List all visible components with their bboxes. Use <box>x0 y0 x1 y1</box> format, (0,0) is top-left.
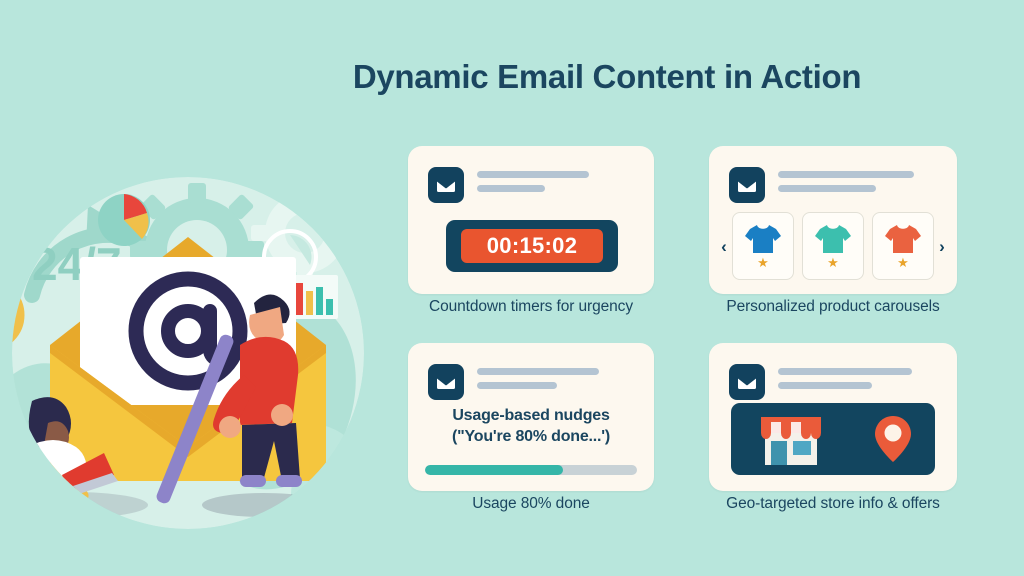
geo-store-cell: Geo-targeted store info & offers <box>709 343 957 518</box>
usage-nudge-message: Usage-based nudges ("You're 80% done...'… <box>422 405 640 447</box>
email-header <box>729 167 914 203</box>
page-title: Dynamic Email Content in Action <box>0 58 1024 96</box>
geo-store-caption: Geo-targeted store info & offers <box>709 495 957 513</box>
storefront-icon <box>753 411 829 467</box>
subject-placeholder-lines <box>778 167 914 199</box>
star-icon: ★ <box>897 256 909 269</box>
subject-placeholder-lines <box>778 364 912 396</box>
product-tile[interactable]: ★ <box>802 212 864 280</box>
usage-progress-fill <box>425 465 563 475</box>
envelope-icon <box>729 364 765 400</box>
subject-placeholder-lines <box>477 364 599 396</box>
t-shirt-blue-icon <box>744 223 782 255</box>
subject-placeholder-lines <box>477 167 589 199</box>
carousel-next-icon[interactable]: › <box>935 238 949 255</box>
usage-nudge-line-1: Usage-based nudges <box>422 405 640 426</box>
star-icon: ★ <box>827 256 839 269</box>
product-carousel-card[interactable]: ‹ ★ ★ <box>709 146 957 294</box>
product-carousel-cell: ‹ ★ ★ <box>709 146 957 321</box>
envelope-icon <box>428 364 464 400</box>
usage-nudge-caption: Usage 80% done <box>408 495 654 513</box>
geo-store-card[interactable] <box>709 343 957 491</box>
carousel-prev-icon[interactable]: ‹ <box>717 238 731 255</box>
countdown-timer-caption: Countdown timers for urgency <box>408 298 654 316</box>
map-pin-icon <box>873 414 913 464</box>
countdown-timer-frame: 00:15:02 <box>446 220 618 272</box>
email-marketing-illustration: 24/7 <box>0 175 382 540</box>
feature-card-grid: 00:15:02 Countdown timers for urgency <box>408 146 968 536</box>
t-shirt-orange-icon <box>884 223 922 255</box>
usage-nudge-card[interactable]: Usage-based nudges ("You're 80% done...'… <box>408 343 654 491</box>
email-header <box>428 364 599 400</box>
envelope-icon <box>729 167 765 203</box>
usage-progress-bar <box>425 465 637 475</box>
email-header <box>729 364 912 400</box>
product-tile[interactable]: ★ <box>732 212 794 280</box>
geo-store-panel <box>731 403 935 475</box>
usage-nudge-cell: Usage-based nudges ("You're 80% done...'… <box>408 343 654 518</box>
product-tile[interactable]: ★ <box>872 212 934 280</box>
countdown-timer-value: 00:15:02 <box>461 229 603 263</box>
star-icon: ★ <box>757 256 769 269</box>
usage-nudge-line-2: ("You're 80% done...') <box>422 426 640 447</box>
countdown-timer-card[interactable]: 00:15:02 <box>408 146 654 294</box>
product-tiles: ★ ★ ★ <box>732 212 934 280</box>
t-shirt-teal-icon <box>814 223 852 255</box>
email-header <box>428 167 589 203</box>
product-carousel-caption: Personalized product carousels <box>709 298 957 316</box>
envelope-icon <box>428 167 464 203</box>
product-carousel: ‹ ★ ★ <box>717 212 949 280</box>
countdown-timer-cell: 00:15:02 Countdown timers for urgency <box>408 146 654 321</box>
slide-canvas: Dynamic Email Content in Action 24/7 <box>0 0 1024 576</box>
